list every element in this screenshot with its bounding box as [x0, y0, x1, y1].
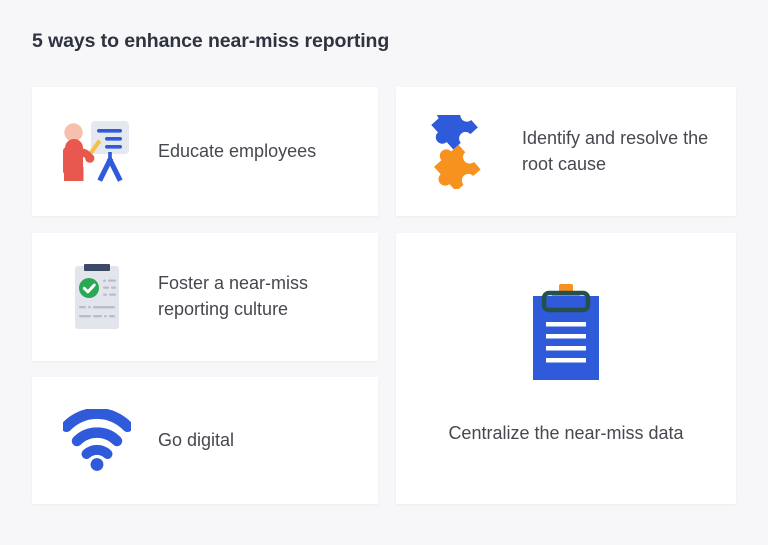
- card-identify-resolve-root-cause[interactable]: Identify and resolve the root cause: [396, 87, 736, 216]
- page-title: 5 ways to enhance near-miss reporting: [32, 30, 389, 53]
- icon-container: [58, 117, 136, 187]
- icon-container: [58, 262, 136, 332]
- teacher-whiteboard-icon: [61, 117, 133, 187]
- card-foster-reporting-culture[interactable]: Foster a near-miss reporting culture: [32, 233, 378, 361]
- icon-container: [526, 284, 606, 380]
- card-go-digital[interactable]: Go digital: [32, 377, 378, 504]
- card-label: Go digital: [158, 428, 234, 454]
- icon-container: [58, 409, 136, 473]
- checked-document-icon: [70, 262, 124, 332]
- icon-container: [422, 115, 500, 189]
- card-centralize-near-miss-data[interactable]: Centralize the near-miss data: [396, 233, 736, 504]
- clipboard-icon: [526, 284, 606, 380]
- wifi-icon: [63, 409, 131, 473]
- card-label: Identify and resolve the root cause: [522, 126, 722, 177]
- card-label: Foster a near-miss reporting culture: [158, 271, 358, 322]
- puzzle-pieces-icon: [423, 115, 499, 189]
- card-label: Centralize the near-miss data: [448, 420, 683, 447]
- card-label: Educate employees: [158, 139, 316, 165]
- card-educate-employees[interactable]: Educate employees: [32, 87, 378, 216]
- infographic-page: 5 ways to enhance near-miss reporting: [0, 0, 768, 545]
